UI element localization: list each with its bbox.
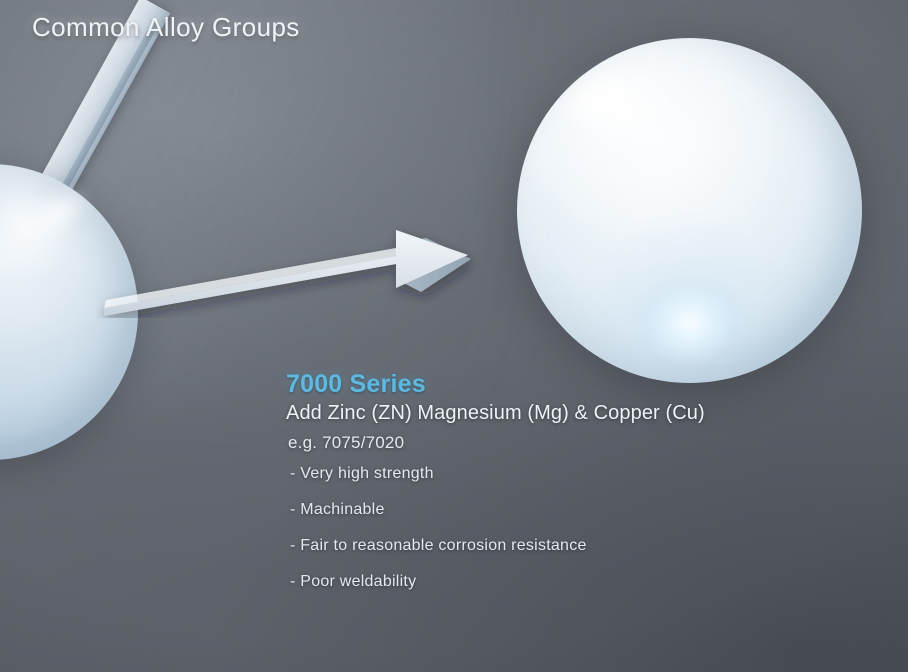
example-line: e.g. 7075/7020 [288,433,866,453]
page-title: Common Alloy Groups [32,12,300,43]
series-heading: 7000 Series [286,370,866,398]
list-item: - Fair to reasonable corrosion resistanc… [290,537,866,555]
result-sphere [517,38,862,383]
property-list: - Very high strength - Machinable - Fair… [286,465,866,591]
list-item: - Very high strength [290,465,866,483]
composition-line: Add Zinc (ZN) Magnesium (Mg) & Copper (C… [286,401,866,426]
alloy-info-block: 7000 Series Add Zinc (ZN) Magnesium (Mg)… [286,370,866,609]
list-item: - Poor weldability [290,573,866,591]
list-item: - Machinable [290,501,866,519]
slide-canvas: Common Alloy Groups 7000 Series Add Zinc… [0,0,908,672]
